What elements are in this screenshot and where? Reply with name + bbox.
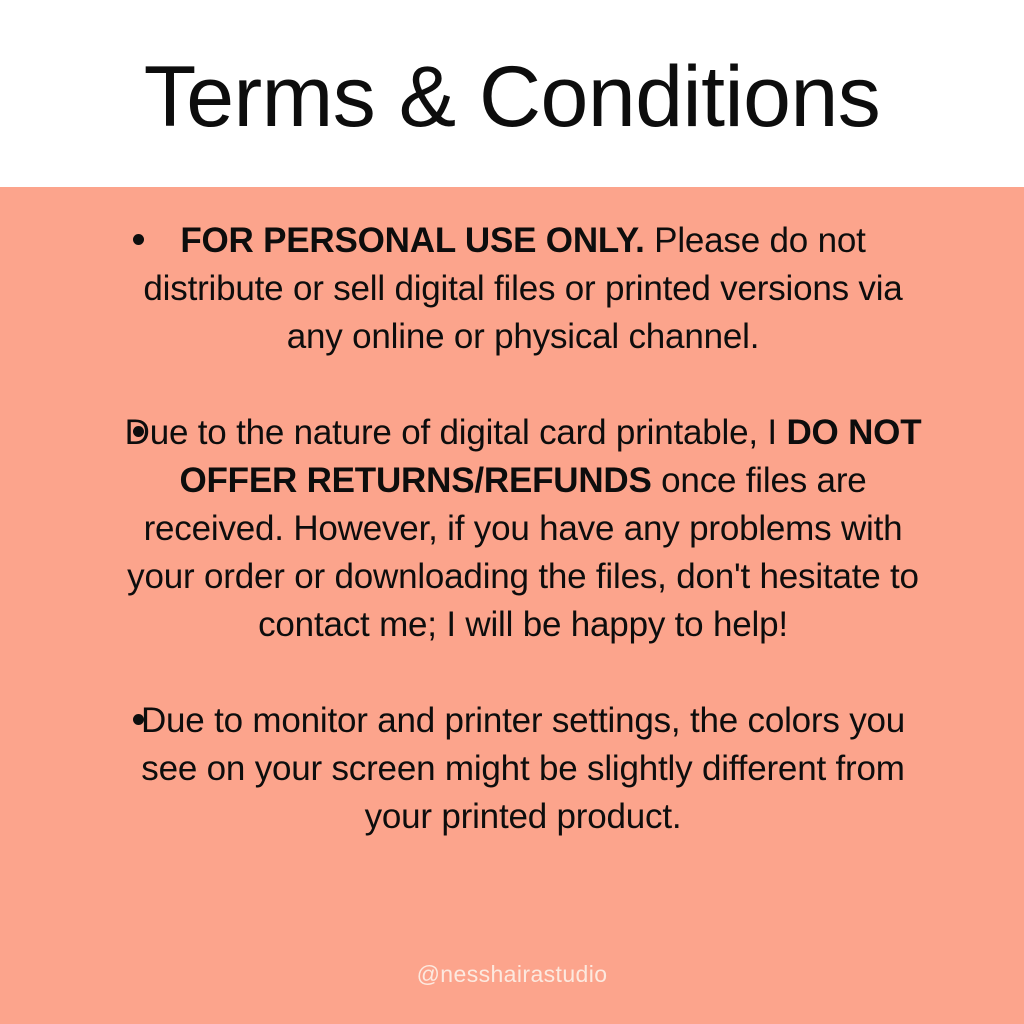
list-item: Due to the nature of digital card printa… — [55, 409, 969, 649]
terms-list: FOR PERSONAL USE ONLY. Please do not dis… — [55, 217, 969, 841]
terms-and-conditions-page: Terms & Conditions FOR PERSONAL USE ONLY… — [0, 0, 1024, 1024]
list-item: Due to monitor and printer settings, the… — [55, 697, 969, 841]
list-item-emphasis: FOR PERSONAL USE ONLY. — [180, 221, 644, 260]
list-item: FOR PERSONAL USE ONLY. Please do not dis… — [55, 217, 969, 361]
page-title: Terms & Conditions — [144, 54, 881, 140]
list-item-text: Due to the nature of digital card printa… — [117, 409, 929, 649]
bullet-marker-icon — [133, 426, 144, 437]
list-item-body: Due to monitor and printer settings, the… — [141, 701, 905, 836]
list-item-text: FOR PERSONAL USE ONLY. Please do not dis… — [117, 217, 929, 361]
list-item-lead: Due to the nature of digital card printa… — [125, 413, 787, 452]
list-item-text: Due to monitor and printer settings, the… — [117, 697, 929, 841]
watermark-handle: @nesshairastudio — [0, 961, 1024, 988]
bullet-marker-icon — [133, 714, 144, 725]
page-header: Terms & Conditions — [0, 0, 1024, 187]
bullet-marker-icon — [133, 234, 144, 245]
terms-panel: FOR PERSONAL USE ONLY. Please do not dis… — [0, 187, 1024, 1024]
